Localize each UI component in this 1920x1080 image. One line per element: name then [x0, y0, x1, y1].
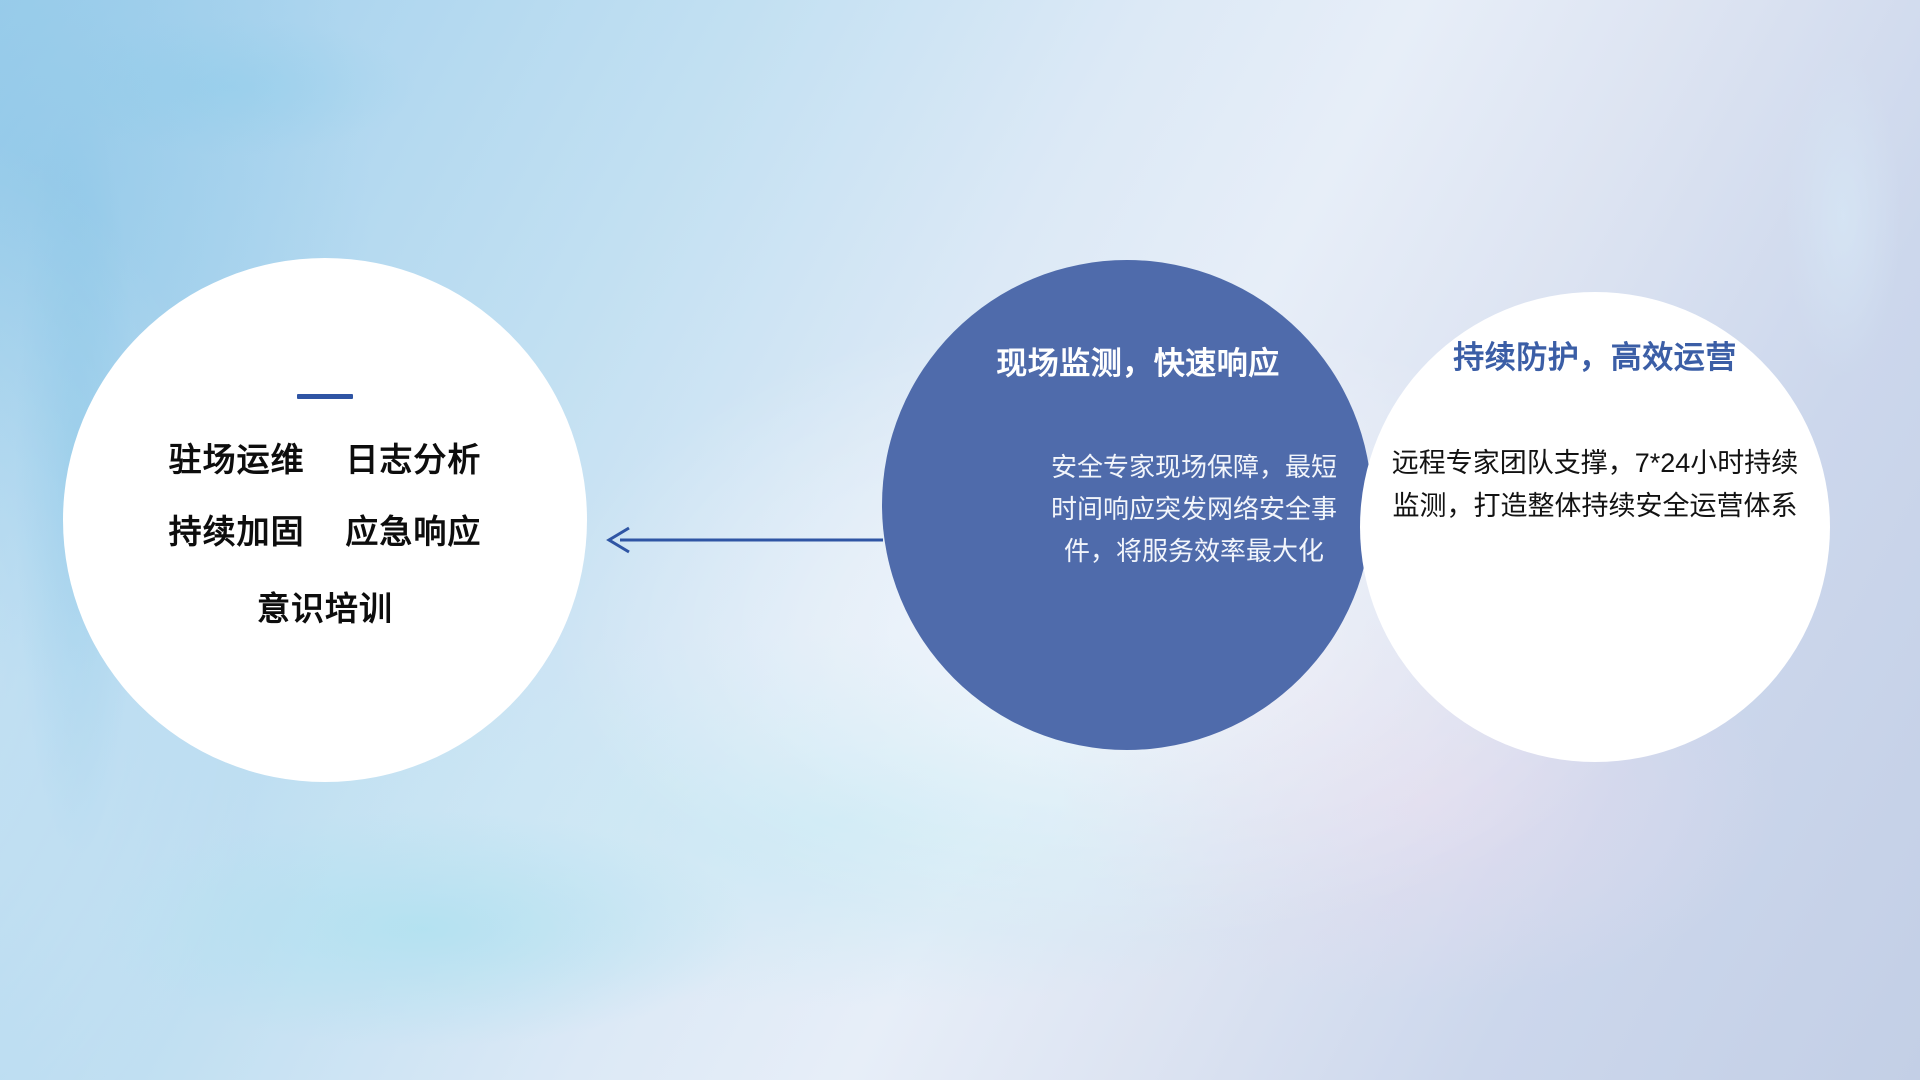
right-circle-content: 持续防护，高效运营 远程专家团队支撑，7*24小时持续监测，打造整体持续安全运营… [1360, 292, 1830, 762]
middle-circle-content: 现场监测，快速响应 安全专家现场保障，最短时间响应突发网络安全事件，将服务效率最… [882, 260, 1372, 750]
middle-circle-card[interactable]: 现场监测，快速响应 安全专家现场保障，最短时间响应突发网络安全事件，将服务效率最… [882, 260, 1372, 750]
right-circle-body-text: 远程专家团队支撑，7*24小时持续监测，打造整体持续安全运营体系 [1386, 442, 1804, 528]
accent-dash-divider [297, 394, 353, 399]
left-circle-capability-row-3: 意识培训 [257, 592, 393, 625]
arrow-left-icon [595, 516, 885, 564]
left-circle-content: 驻场运维 日志分析 持续加固 应急响应 意识培训 [63, 258, 587, 782]
left-circle-capability-row-2: 持续加固 应急响应 [169, 515, 482, 548]
right-circle-title: 持续防护，高效运营 [1386, 340, 1804, 376]
middle-circle-title: 现场监测，快速响应 [926, 346, 1350, 382]
slide-canvas: 现场监测，快速响应 安全专家现场保障，最短时间响应突发网络安全事件，将服务效率最… [0, 0, 1920, 1080]
middle-circle-body-text: 安全专家现场保障，最短时间响应突发网络安全事件，将服务效率最大化 [1044, 446, 1344, 572]
right-circle-card[interactable]: 持续防护，高效运营 远程专家团队支撑，7*24小时持续监测，打造整体持续安全运营… [1360, 292, 1830, 762]
left-circle-capability-row-1: 驻场运维 日志分析 [169, 443, 482, 476]
left-circle-card[interactable]: 驻场运维 日志分析 持续加固 应急响应 意识培训 [63, 258, 587, 782]
